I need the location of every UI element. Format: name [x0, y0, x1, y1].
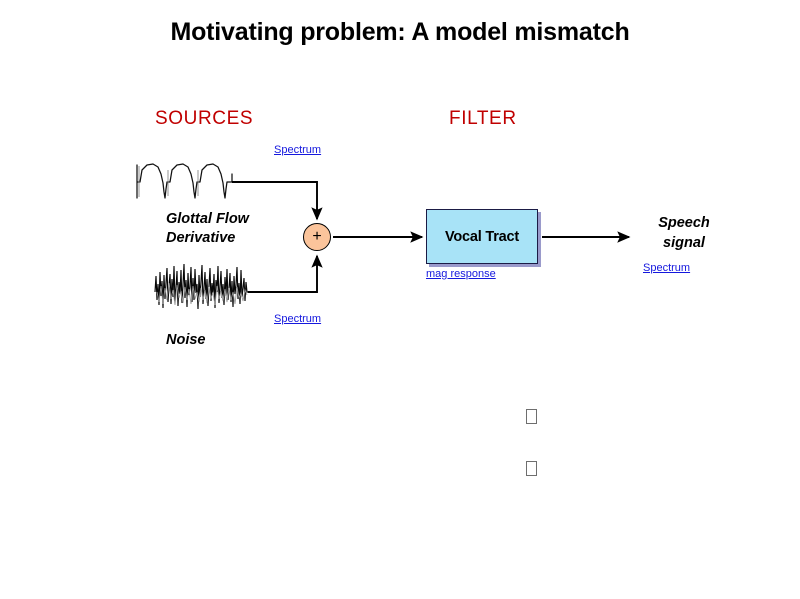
glottal-caption-line-1: Glottal Flow: [166, 210, 249, 229]
speech-label-line-2: signal: [641, 234, 727, 254]
summing-junction: +: [303, 223, 331, 251]
plus-icon: +: [304, 224, 330, 250]
filter-heading: FILTER: [449, 108, 517, 130]
speech-label-line-1: Speech: [641, 214, 727, 234]
slide-canvas: Motivating problem: A model mismatch SOU…: [0, 0, 800, 599]
signal-flow-connectors: [0, 0, 800, 599]
waveforms-layer: [0, 0, 800, 599]
vocal-tract-label: Vocal Tract: [445, 229, 519, 245]
spectrum-link-speech[interactable]: Spectrum: [643, 262, 690, 274]
mag-response-link[interactable]: mag response: [426, 268, 496, 280]
noise-caption: Noise: [166, 331, 206, 350]
vocal-tract-block[interactable]: Vocal Tract: [426, 209, 538, 264]
missing-glyph-box-1: [526, 409, 537, 424]
glottal-caption-line-2: Derivative: [166, 229, 249, 248]
speech-signal-label: Speech signal: [641, 214, 727, 253]
glottal-flow-derivative-caption: Glottal Flow Derivative: [166, 210, 249, 248]
connector-noise-to-sum: [248, 256, 317, 292]
spectrum-link-noise[interactable]: Spectrum: [274, 313, 321, 325]
glottal-flow-derivative-waveform: [137, 164, 232, 198]
page-title: Motivating problem: A model mismatch: [0, 18, 800, 47]
missing-glyph-box-2: [526, 461, 537, 476]
spectrum-link-glottal[interactable]: Spectrum: [274, 144, 321, 156]
noise-waveform: [155, 264, 248, 309]
sources-heading: SOURCES: [155, 108, 253, 130]
